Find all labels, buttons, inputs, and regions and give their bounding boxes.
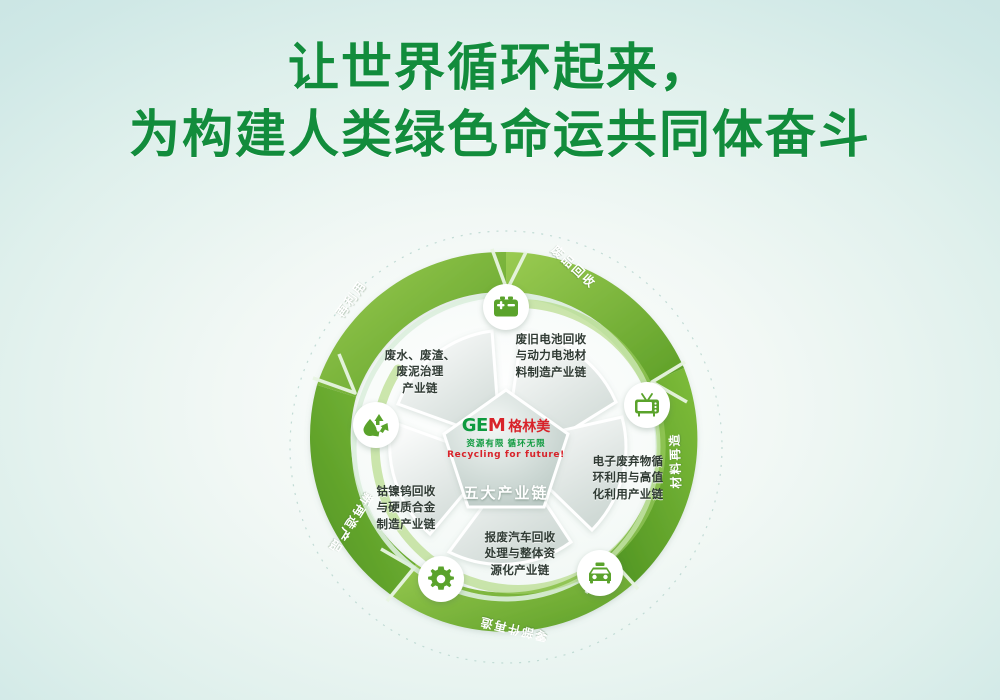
battery-icon-glyph xyxy=(493,296,519,318)
page-title: 让世界循环起来， 为构建人类绿色命运共同体奋斗 xyxy=(0,34,1000,169)
petal-label-battery: 废旧电池回收 与动力电池材 料制造产业链 xyxy=(499,332,603,381)
gem-logo: GEM 格林美 xyxy=(441,417,571,435)
petal-label-vehicle: 报废汽车回收 处理与整体资 源化产业链 xyxy=(468,530,572,579)
gem-wordmark-cn: 格林美 xyxy=(508,419,550,433)
tv-icon xyxy=(624,382,670,428)
petal-label-ewaste: 电子废弃物循 环利用与高值 化利用产业链 xyxy=(576,454,680,503)
center-logo-block: GEM 格林美 资源有限 循环无限 Recycling for future! … xyxy=(441,417,571,503)
water-drop-recycle-icon xyxy=(353,402,399,448)
petal-label-wastewater: 废水、废渣、 废泥治理 产业链 xyxy=(368,348,472,397)
water-drop-recycle-icon-glyph xyxy=(362,412,390,438)
center-title: 五大产业链 xyxy=(441,482,571,503)
battery-icon xyxy=(483,284,529,330)
logo-slogan-cn: 资源有限 循环无限 xyxy=(441,437,571,449)
gem-wordmark: GEM xyxy=(462,417,506,435)
tv-icon-glyph xyxy=(633,392,661,418)
headline-line-1: 让世界循环起来， xyxy=(0,34,1000,101)
five-industry-chain-diagram: 再利用 废品回收 材料再造 零部件再造 新再造产品 废水、废渣、 废泥治理 产业… xyxy=(286,212,726,682)
car-icon-glyph xyxy=(586,562,614,584)
gear-icon-glyph xyxy=(428,566,454,592)
headline-line-2: 为构建人类绿色命运共同体奋斗 xyxy=(0,101,1000,168)
poster-stage: 让世界循环起来， 为构建人类绿色命运共同体奋斗 xyxy=(0,0,1000,700)
gear-icon xyxy=(418,556,464,602)
logo-slogan-en: Recycling for future! xyxy=(441,450,571,460)
car-icon xyxy=(577,550,623,596)
